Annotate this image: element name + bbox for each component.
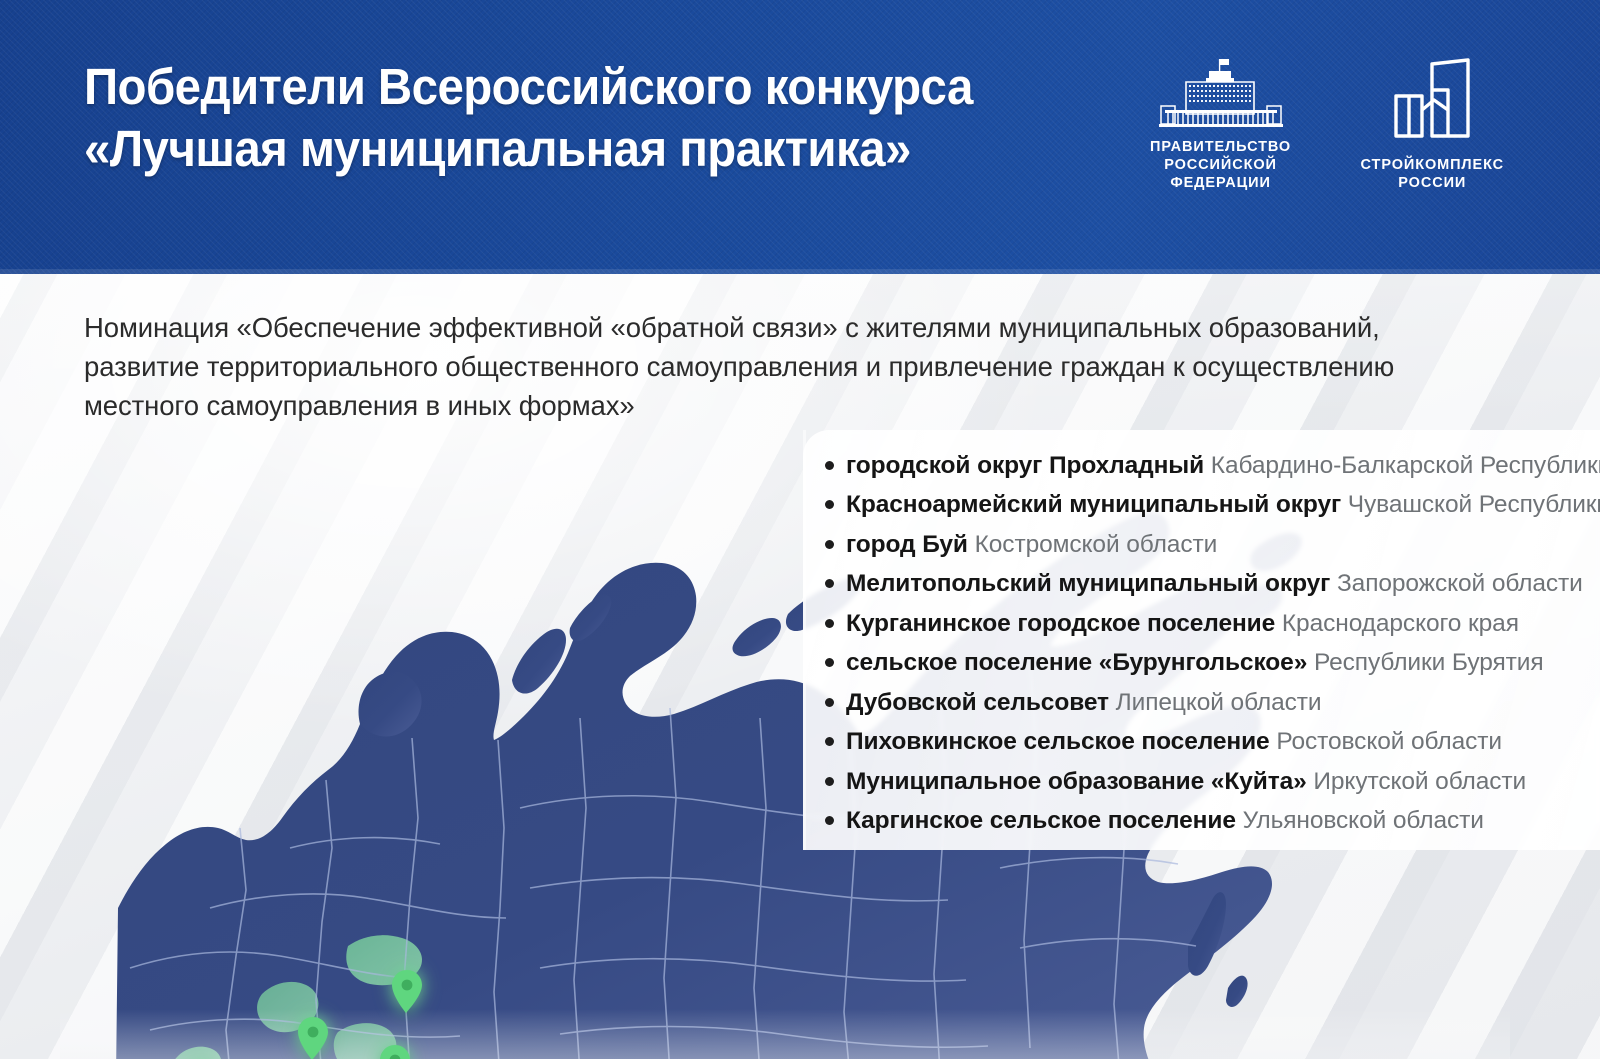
list-item: Пиховкинское сельское поселение Ростовск… [825,723,1590,763]
logo-government-rf: ПРАВИТЕЛЬСТВО РОССИЙСКОЙ ФЕДЕРАЦИИ [1145,56,1297,192]
winner-region: Чувашской Республики [1348,491,1600,518]
bullet-icon [825,500,834,509]
winner-region: Республики Бурятия [1314,649,1544,676]
bullet-icon [825,619,834,628]
winner-region: Ростовской области [1276,728,1502,755]
logo-stroykompleks: СТРОЙКОМПЛЕКС РОССИИ [1361,56,1504,192]
header-banner: Победители Всероссийского конкурса «Лучш… [0,0,1600,274]
winner-region: Иркутской области [1313,768,1526,795]
bullet-icon [825,816,834,825]
winner-name: Курганинское городское поселение [846,610,1275,637]
winner-name: Пиховкинское сельское поселение [846,728,1270,755]
winners-list: городской округ Прохладный Кабардино-Бал… [825,446,1590,841]
list-item: Дубовской сельсовет Липецкой области [825,683,1590,723]
winner-region: Липецкой области [1116,689,1322,716]
winner-name: Красноармейский муниципальный округ [846,491,1341,518]
winner-region: Костромской области [975,531,1218,558]
list-item: Каргинское сельское поселение Ульяновско… [825,802,1590,842]
list-item: город Буй Костромской области [825,525,1590,565]
winner-region: Краснодарского края [1282,610,1519,637]
winner-name: городской округ Прохладный [846,452,1204,479]
winner-name: сельское поселение «Бурунгольское» [846,649,1307,676]
winner-name: Дубовской сельсовет [846,689,1109,716]
list-item: Красноармейский муниципальный округ Чува… [825,486,1590,526]
winner-region: Запорожской области [1337,570,1583,597]
logo-group: ПРАВИТЕЛЬСТВО РОССИЙСКОЙ ФЕДЕРАЦИИ СТРОЙ… [1145,56,1504,192]
list-item: Мелитопольский муниципальный округ Запор… [825,565,1590,605]
winner-name: город Буй [846,531,968,558]
nomination-text: Номинация «Обеспечение эффективной «обра… [84,308,1459,425]
list-item: Курганинское городское поселение Краснод… [825,604,1590,644]
list-item: городской округ Прохладный Кабардино-Бал… [825,446,1590,486]
list-item: Муниципальное образование «Куйта» Иркутс… [825,762,1590,802]
winner-name: Мелитопольский муниципальный округ [846,570,1330,597]
winner-region: Ульяновской области [1243,807,1484,834]
winner-name: Каргинское сельское поселение [846,807,1236,834]
logo-stroykompleks-caption: СТРОЙКОМПЛЕКС РОССИИ [1361,156,1504,192]
bullet-icon [825,461,834,470]
bullet-icon [825,698,834,707]
bullet-icon [825,540,834,549]
infographic-poster: Победители Всероссийского конкурса «Лучш… [0,0,1600,1059]
building-outline-icon [1386,56,1478,146]
bullet-icon [825,658,834,667]
bullet-icon [825,737,834,746]
winners-panel: городской округ Прохладный Кабардино-Бал… [803,430,1600,850]
winner-name: Муниципальное образование «Куйта» [846,768,1307,795]
government-building-icon [1145,56,1297,128]
winner-region: Кабардино-Балкарской Республики [1211,452,1600,479]
bullet-icon [825,777,834,786]
logo-government-rf-caption: ПРАВИТЕЛЬСТВО РОССИЙСКОЙ ФЕДЕРАЦИИ [1150,138,1291,192]
bullet-icon [825,579,834,588]
list-item: сельское поселение «Бурунгольское» Респу… [825,644,1590,684]
page-title: Победители Всероссийского конкурса «Лучш… [84,56,1023,180]
